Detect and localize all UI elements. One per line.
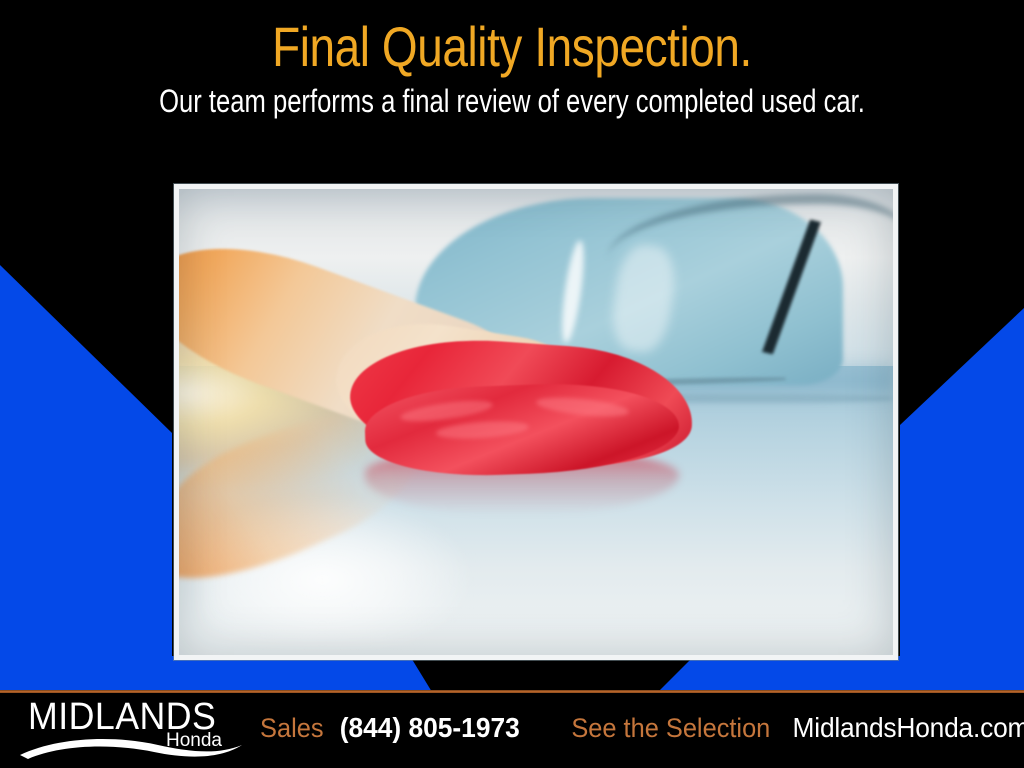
footer-contact-group: Sales (844) 805-1973 See the Selection M… xyxy=(258,713,1024,753)
headline-block: Final Quality Inspection. Our team perfo… xyxy=(0,0,1024,170)
photo-frame xyxy=(174,184,898,660)
footer-bar: MIDLANDS Honda Sales (844) 805-1973 See … xyxy=(0,693,1024,768)
selection-label: See the Selection xyxy=(571,713,770,743)
page-subtitle: Our team performs a final review of ever… xyxy=(102,78,921,120)
photo-image xyxy=(179,189,893,655)
dealer-logo[interactable]: MIDLANDS Honda xyxy=(18,695,248,765)
website-url[interactable]: MidlandsHonda.com xyxy=(792,713,1024,743)
page-title: Final Quality Inspection. xyxy=(92,0,932,78)
sales-phone[interactable]: (844) 805-1973 xyxy=(339,713,519,743)
sales-label: Sales xyxy=(260,713,323,743)
photo-vignette xyxy=(179,189,893,655)
swoosh-icon xyxy=(18,725,246,763)
slide-canvas: Final Quality Inspection. Our team perfo… xyxy=(0,0,1024,768)
